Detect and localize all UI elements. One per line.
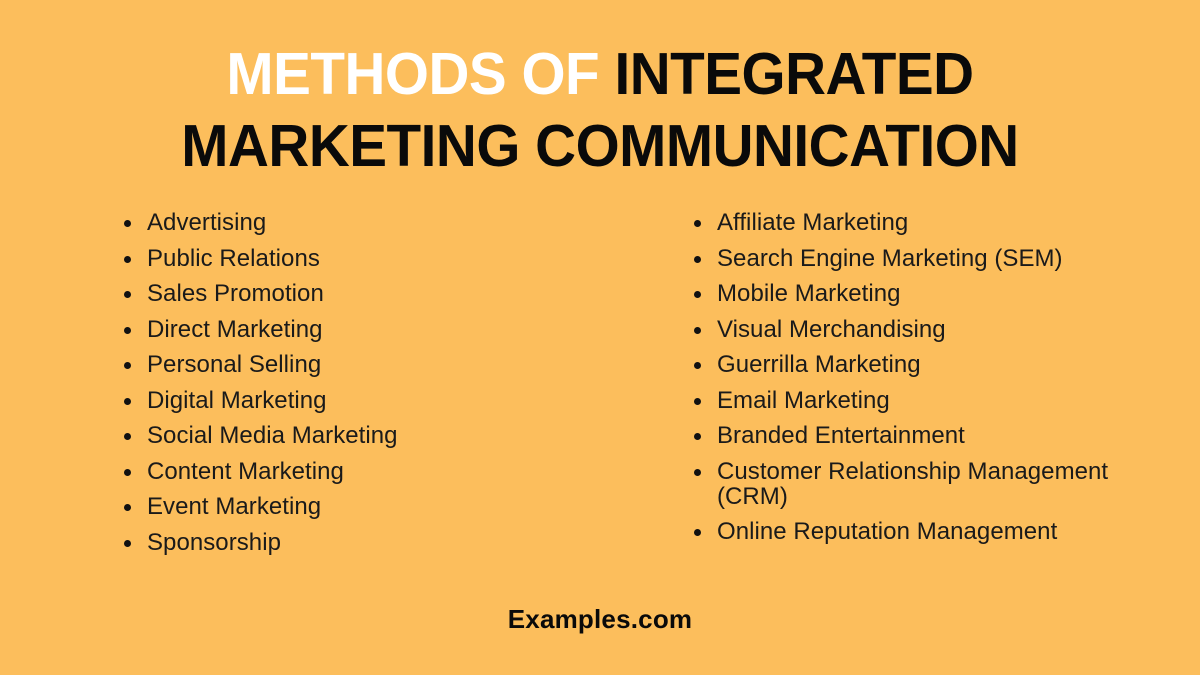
list-item: Search Engine Marketing (SEM) [685,246,1160,271]
list-item: Content Marketing [115,459,600,484]
methods-list-left: Advertising Public Relations Sales Promo… [115,210,600,555]
list-item: Social Media Marketing [115,423,600,448]
list-item: Visual Merchandising [685,317,1160,342]
list-item: Email Marketing [685,388,1160,413]
methods-column-right: Affiliate Marketing Search Engine Market… [600,210,1160,604]
title-line-1: METHODS OF INTEGRATED [82,38,1119,110]
list-item: Public Relations [115,246,600,271]
list-item: Sponsorship [115,530,600,555]
methods-columns: Advertising Public Relations Sales Promo… [0,182,1200,604]
list-item: Online Reputation Management [685,519,1160,544]
poster-canvas: METHODS OF INTEGRATED MARKETING COMMUNIC… [0,0,1200,675]
title-highlight-text: METHODS OF [226,41,599,107]
list-item: Direct Marketing [115,317,600,342]
footer: Examples.com [0,604,1200,675]
title-line-1-rest: INTEGRATED [599,41,973,107]
list-item: Digital Marketing [115,388,600,413]
methods-list-right: Affiliate Marketing Search Engine Market… [685,210,1160,544]
list-item: Customer Relationship Management (CRM) [685,459,1160,509]
page-title: METHODS OF INTEGRATED MARKETING COMMUNIC… [0,0,1200,182]
list-item: Sales Promotion [115,281,600,306]
brand-label: Examples.com [508,604,693,634]
list-item: Personal Selling [115,352,600,377]
list-item: Advertising [115,210,600,235]
list-item: Mobile Marketing [685,281,1160,306]
list-item: Branded Entertainment [685,423,1160,448]
list-item: Affiliate Marketing [685,210,1160,235]
title-line-2: MARKETING COMMUNICATION [82,110,1119,182]
methods-column-left: Advertising Public Relations Sales Promo… [40,210,600,604]
list-item: Guerrilla Marketing [685,352,1160,377]
list-item: Event Marketing [115,494,600,519]
